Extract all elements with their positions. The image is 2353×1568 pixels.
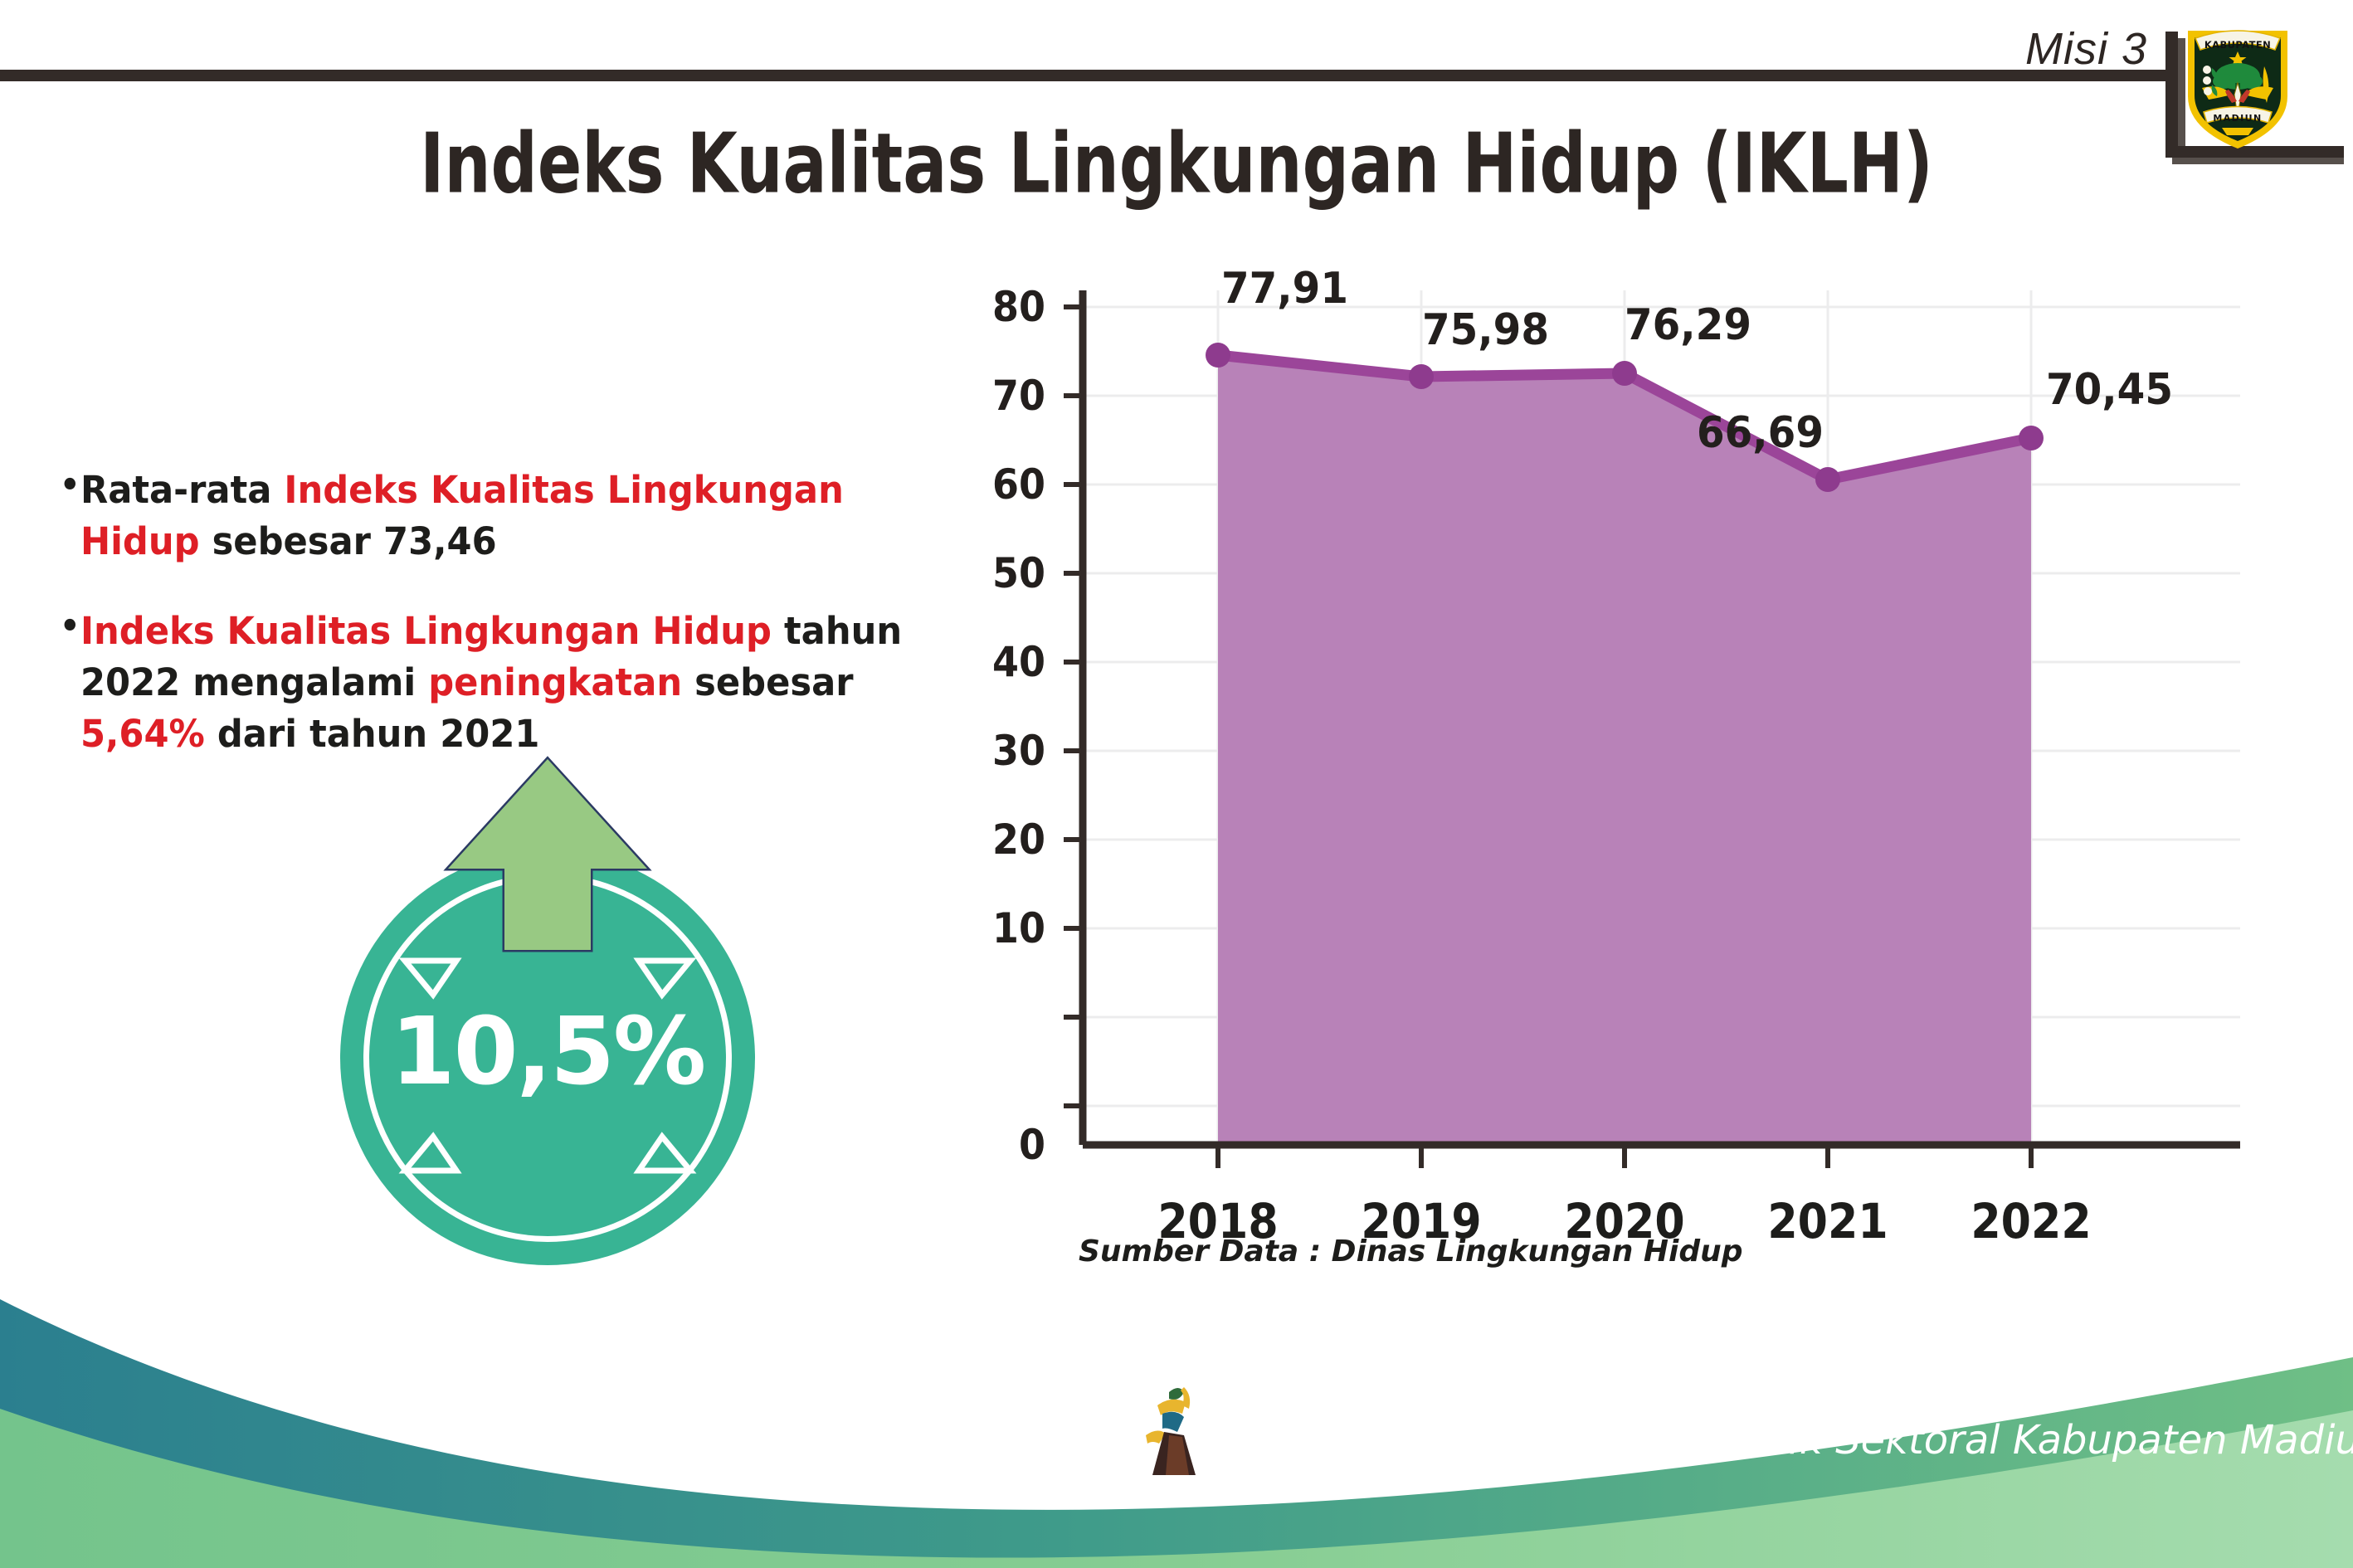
y-tick-label-80: 80 — [954, 283, 1045, 331]
statistik-person-icon — [1141, 1381, 1217, 1478]
y-tick-label-40: 40 — [954, 638, 1045, 686]
bullet-2-seg-4: sebesar — [682, 660, 853, 704]
y-tick-label-50: 50 — [954, 549, 1045, 597]
chart-marker — [1206, 343, 1230, 368]
bullet-2-seg-5: 5,64% — [80, 712, 205, 756]
bullet-item-1: Rata-rata Indeks Kualitas Lingkungan Hid… — [60, 465, 912, 567]
footer-band: Media Infografis Data Statistik Sektoral… — [0, 1286, 2353, 1568]
page-title: Indeks Kualitas Lingkungan Hidup (IKLH) — [47, 116, 2307, 212]
data-label-2018: 77,91 — [1221, 264, 1348, 314]
chart-marker — [2019, 426, 2044, 450]
bullet-1-seg-1: Rata-rata — [80, 468, 284, 512]
y-tick-label-0: 0 — [954, 1121, 1045, 1169]
iklh-area-chart: 80 70 60 50 40 30 20 10 0 2018 2019 2020… — [971, 282, 2265, 1195]
bullet-list: Rata-rata Indeks Kualitas Lingkungan Hid… — [60, 465, 912, 798]
bullet-2-seg-1: Indeks Kualitas Lingkungan Hidup — [80, 609, 772, 653]
badge-value: 10,5% — [340, 998, 755, 1106]
bullet-2-seg-6: dari tahun 2021 — [205, 712, 540, 756]
data-label-2022: 70,45 — [2046, 365, 2173, 415]
chart-marker — [1409, 364, 1434, 389]
chart-svg — [971, 282, 2265, 1195]
chart-marker — [1612, 361, 1637, 386]
bullet-item-2: Indeks Kualitas Lingkungan Hidup tahun 2… — [60, 606, 912, 760]
y-tick-label-30: 30 — [954, 727, 1045, 775]
logo-top-banner-text: KABUPATEN — [2204, 39, 2271, 51]
y-tick-label-10: 10 — [954, 904, 1045, 952]
y-tick-label-20: 20 — [954, 816, 1045, 864]
chart-area-fill — [1218, 355, 2031, 1145]
chart-marker — [1815, 467, 1840, 492]
misi-label: Misi 3 — [2025, 23, 2147, 75]
data-label-2019: 75,98 — [1422, 305, 1549, 355]
bullet-1-seg-3: sebesar 73,46 — [200, 519, 497, 563]
y-tick-label-60: 60 — [954, 460, 1045, 509]
header-divider-rule — [0, 70, 2175, 81]
data-label-2021: 66,69 — [1697, 408, 1824, 458]
bullet-2-seg-3: peningkatan — [428, 660, 682, 704]
x-tick-label-2022: 2022 — [1934, 1193, 2128, 1249]
data-label-2020: 76,29 — [1625, 300, 1751, 350]
x-tick-label-2021: 2021 — [1731, 1193, 1925, 1249]
y-tick-label-70: 70 — [954, 372, 1045, 420]
increase-badge: 10,5% — [315, 751, 780, 1224]
footer-text: Media Infografis Data Statistik Sektoral… — [1220, 1417, 2353, 1463]
chart-source-note: Sumber Data : Dinas Lingkungan Hidup — [1079, 1234, 1743, 1269]
infographic-slide: Misi 3 KABUPATEN MADIUN — [0, 0, 2353, 1568]
